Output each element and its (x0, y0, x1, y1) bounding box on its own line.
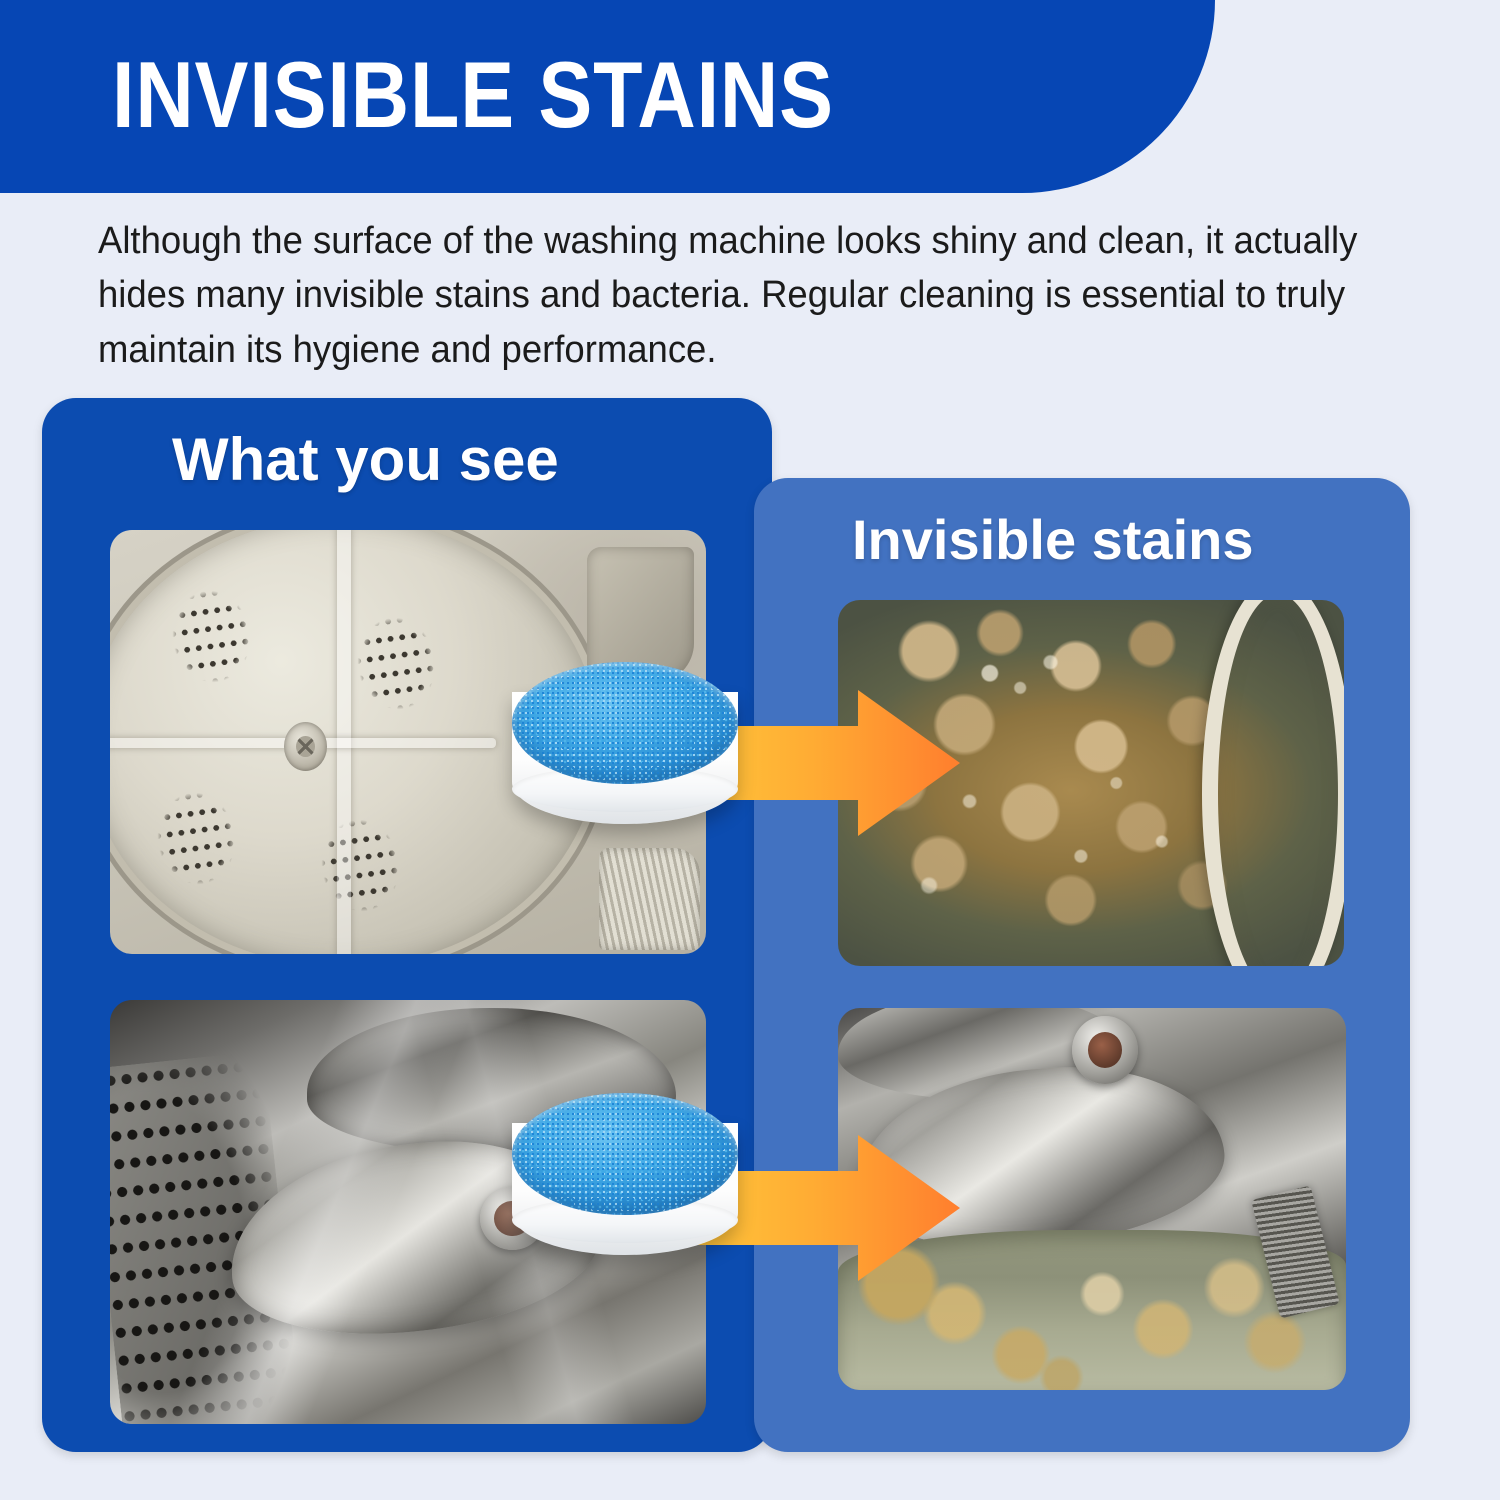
lint-filter-grill (599, 848, 700, 950)
drain-holes-group (346, 606, 447, 720)
tub-door-ring (1202, 600, 1344, 966)
effervescent-tablet-top (512, 662, 738, 858)
page-title: INVISIBLE STAINS (112, 48, 834, 142)
panel-heading-invisible-stains: Invisible stains (852, 512, 1254, 568)
tablet-blue-speckled-surface (512, 1093, 738, 1215)
drain-holes-group (161, 579, 262, 693)
tablet-blue-speckled-surface (512, 662, 738, 784)
drum-bolt (1072, 1016, 1138, 1085)
drain-holes-group (310, 808, 411, 922)
infographic-page: INVISIBLE STAINS Although the surface of… (0, 0, 1500, 1500)
panel-heading-what-you-see: What you see (172, 430, 559, 490)
center-screw-hub (284, 722, 328, 771)
drain-holes-group (146, 781, 247, 895)
intro-paragraph: Although the surface of the washing mach… (98, 214, 1363, 377)
effervescent-tablet-bottom (512, 1093, 738, 1289)
